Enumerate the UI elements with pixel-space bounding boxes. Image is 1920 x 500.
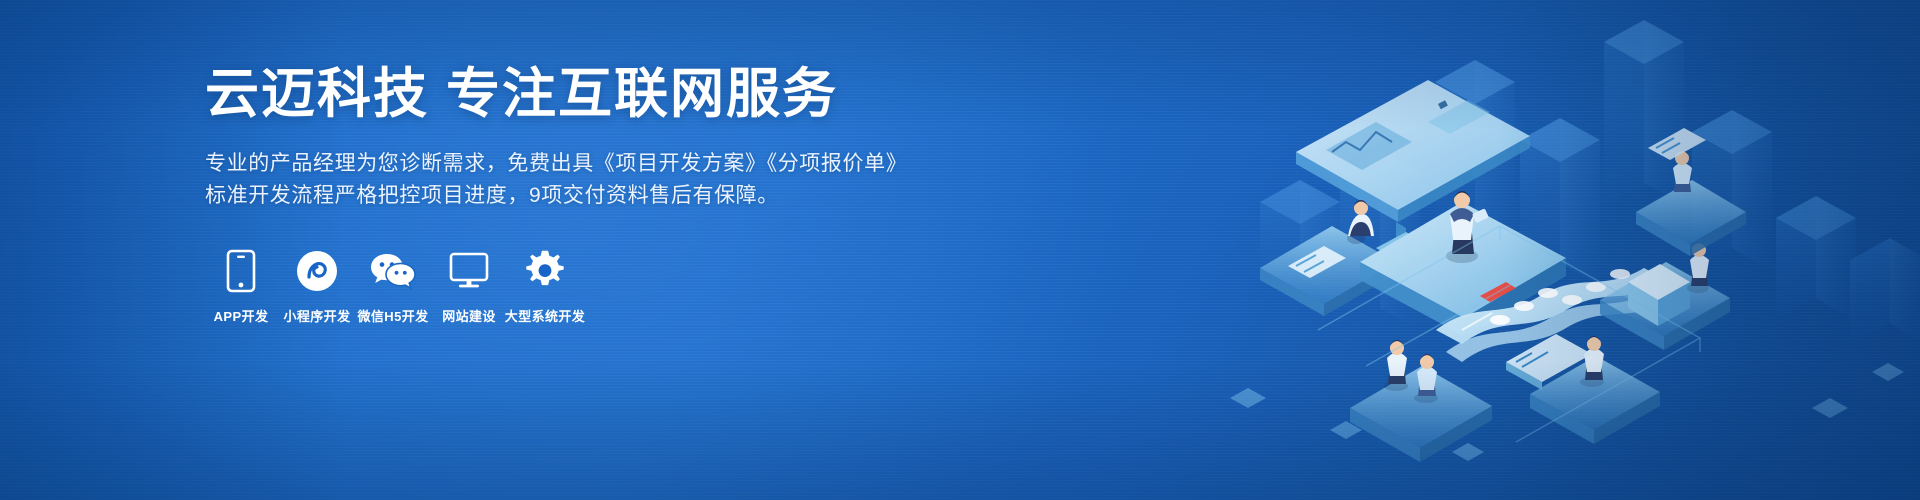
- subtitle-line-2: 标准开发流程严格把控项目进度，9项交付资料售后有保障。: [205, 180, 1105, 212]
- subtitle-line-1: 专业的产品经理为您诊断需求，免费出具《项目开发方案》《分项报价单》: [205, 148, 1105, 180]
- page-title: 云迈科技 专注互联网服务: [205, 64, 1105, 124]
- service-list: APP开发 小程序开发: [205, 248, 1105, 325]
- service-label: 大型系统开发: [505, 306, 585, 325]
- service-item-wechat-h5[interactable]: 微信H5开发: [357, 248, 429, 325]
- wechat-chat-icon: [370, 248, 416, 294]
- service-item-website[interactable]: 网站建设: [433, 248, 505, 325]
- service-item-app[interactable]: APP开发: [205, 248, 277, 325]
- service-label: APP开发: [214, 306, 269, 325]
- desktop-monitor-icon: [449, 248, 489, 294]
- banner-content: 云迈科技 专注互联网服务 专业的产品经理为您诊断需求，免费出具《项目开发方案》《…: [205, 64, 1105, 325]
- mini-program-icon: [296, 248, 338, 294]
- service-item-mini-program[interactable]: 小程序开发: [281, 248, 353, 325]
- isometric-illustration: [1200, 0, 1920, 500]
- service-item-large-system[interactable]: 大型系统开发: [509, 248, 581, 325]
- gear-icon: [524, 248, 566, 294]
- service-label: 网站建设: [442, 306, 496, 325]
- hero-banner: 云迈科技 专注互联网服务 专业的产品经理为您诊断需求，免费出具《项目开发方案》《…: [0, 0, 1920, 500]
- mobile-phone-icon: [226, 248, 256, 294]
- service-label: 微信H5开发: [357, 306, 428, 325]
- subtitle-block: 专业的产品经理为您诊断需求，免费出具《项目开发方案》《分项报价单》 标准开发流程…: [205, 148, 1105, 212]
- service-label: 小程序开发: [283, 306, 350, 325]
